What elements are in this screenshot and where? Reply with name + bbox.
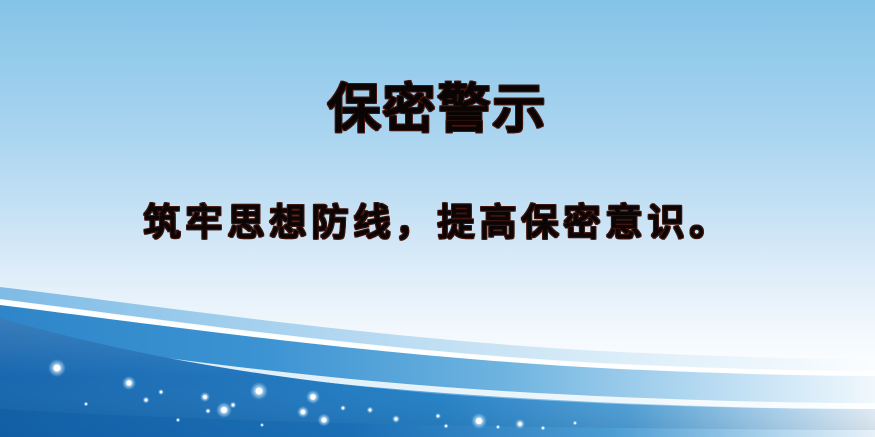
poster-text-block: 保密警示 筑牢思想防线，提高保密意识。 xyxy=(0,0,875,437)
secrecy-warning-poster: 保密警示 筑牢思想防线，提高保密意识。 xyxy=(0,0,875,437)
poster-slogan: 筑牢思想防线，提高保密意识。 xyxy=(144,203,732,244)
page-title: 保密警示 xyxy=(328,82,548,138)
